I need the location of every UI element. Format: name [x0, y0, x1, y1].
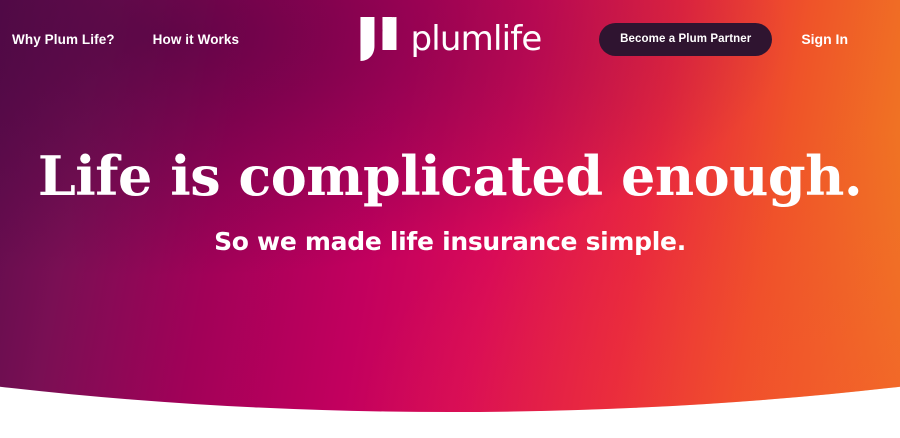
nav-link-how-it-works[interactable]: How it Works [153, 32, 239, 47]
primary-nav-links: Why Plum Life? How it Works [12, 32, 239, 47]
hero-section: Why Plum Life? How it Works Become a Plu… [0, 0, 900, 438]
top-navigation-bar: Why Plum Life? How it Works Become a Plu… [0, 0, 900, 78]
hero-headline: Life is complicated enough. [0, 148, 900, 205]
become-a-plum-partner-button[interactable]: Become a Plum Partner [599, 23, 772, 56]
nav-link-why-plum-life[interactable]: Why Plum Life? [12, 32, 115, 47]
sign-in-link[interactable]: Sign In [801, 31, 848, 47]
hero-copy-block: Life is complicated enough. So we made l… [0, 148, 900, 256]
secondary-nav-actions: Become a Plum Partner Sign In [599, 0, 900, 78]
hero-subheadline: So we made life insurance simple. [0, 227, 900, 256]
